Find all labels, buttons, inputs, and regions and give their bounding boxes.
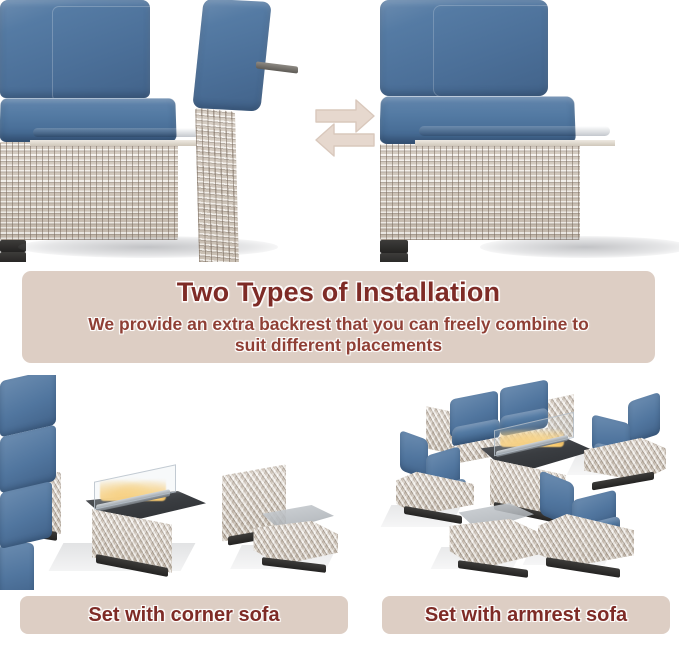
side-table bbox=[444, 501, 546, 583]
armchair-back-cushion bbox=[400, 430, 428, 480]
label-armrest-sofa: Set with armrest sofa bbox=[425, 604, 627, 627]
label-corner-sofa: Set with corner sofa bbox=[88, 604, 279, 627]
wicker-base bbox=[380, 144, 580, 240]
seat-cushion bbox=[380, 96, 576, 144]
label-banner-corner-sofa: Set with corner sofa bbox=[20, 596, 348, 634]
detached-backrest-frame bbox=[195, 108, 241, 262]
base-foot-right bbox=[380, 253, 408, 262]
back-cushion-seam bbox=[52, 6, 200, 102]
armchair-right bbox=[576, 397, 674, 485]
seat-cushion-piping bbox=[419, 126, 610, 136]
armchair-back-cushion bbox=[628, 392, 660, 444]
banner-title: Two Types of Installation bbox=[22, 278, 655, 308]
corner-back-cushion-3 bbox=[0, 481, 52, 549]
seat-cushion-piping bbox=[33, 128, 205, 137]
banner-subtitle-line2: suit different placements bbox=[22, 335, 655, 357]
back-cushion-seam bbox=[433, 5, 597, 97]
headline-banner: Two Types of Installation We provide an … bbox=[22, 271, 655, 363]
top-right-panel bbox=[380, 0, 679, 262]
top-left-panel bbox=[0, 0, 340, 262]
base-foot-right bbox=[0, 252, 26, 262]
bottom-right-panel bbox=[350, 375, 679, 590]
bottom-left-panel bbox=[0, 375, 340, 590]
base-foot-left bbox=[380, 240, 408, 253]
fire-pit-table bbox=[78, 473, 208, 573]
wicker-base bbox=[0, 142, 178, 240]
label-banner-armrest-sofa: Set with armrest sofa bbox=[382, 596, 670, 634]
two-way-swap-arrows-icon bbox=[312, 90, 378, 162]
side-table bbox=[248, 503, 340, 575]
corner-back-cushion-corner bbox=[0, 543, 34, 590]
detached-backrest-group bbox=[198, 0, 308, 258]
ground-shadow bbox=[480, 236, 679, 258]
wicker-base-toprail bbox=[30, 140, 208, 146]
wicker-base-toprail bbox=[415, 140, 615, 146]
detached-backrest-cushion bbox=[192, 0, 271, 111]
banner-subtitle-line1: We provide an extra backrest that you ca… bbox=[22, 314, 655, 336]
armchair-front bbox=[536, 475, 642, 575]
